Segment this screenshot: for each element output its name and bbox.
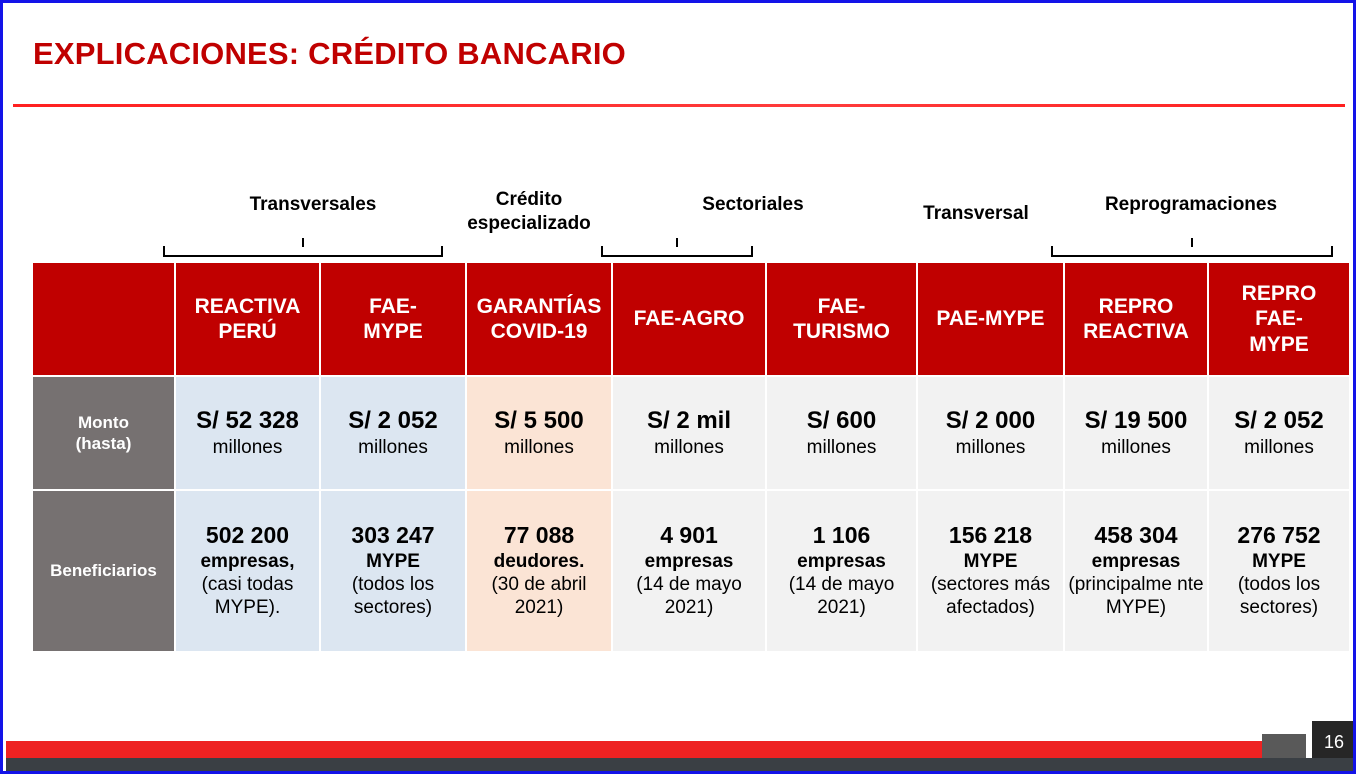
cell-beneficiarios-repro-reactiva: 458 304 empresas (principalme nte MYPE) xyxy=(1065,491,1207,651)
header-line2: COVID-19 xyxy=(467,319,611,344)
beneficiarios-bold-note-text: MYPE xyxy=(366,551,420,572)
credit-programs-table: REACTIVA PERÚ FAE- MYPE GARANTÍAS COVID-… xyxy=(31,261,1351,653)
beneficiarios-count: 1 106 xyxy=(767,522,916,550)
title-divider xyxy=(13,104,1345,107)
monto-unit: millones xyxy=(176,436,319,459)
monto-unit: millones xyxy=(321,436,465,459)
beneficiarios-count: 502 200 xyxy=(176,522,319,550)
cell-monto-fae-turismo: S/ 600 millones xyxy=(767,377,916,489)
monto-amount: S/ 2 052 xyxy=(1209,407,1349,436)
header-line1: REPRO xyxy=(1065,294,1207,319)
beneficiarios-bold-note: empresas, xyxy=(176,550,319,573)
cell-beneficiarios-fae-agro: 4 901 empresas (14 de mayo 2021) xyxy=(613,491,765,651)
beneficiarios-bold-note: empresas xyxy=(767,550,916,573)
beneficiarios-bold-note: deudores. xyxy=(467,550,611,573)
column-header-repro-reactiva: REPRO REACTIVA xyxy=(1065,263,1207,375)
monto-unit: millones xyxy=(467,436,611,459)
header-line2: PERÚ xyxy=(176,319,319,344)
bracket-sectoriales xyxy=(601,243,753,257)
row-label-beneficiarios: Beneficiarios xyxy=(33,491,174,651)
cell-monto-fae-agro: S/ 2 mil millones xyxy=(613,377,765,489)
header-line2: TURISMO xyxy=(767,319,916,344)
footer-dark-strip xyxy=(6,758,1356,771)
slide-canvas: EXPLICACIONES: CRÉDITO BANCARIO Transver… xyxy=(0,0,1356,774)
column-header-pae-mype: PAE-MYPE xyxy=(918,263,1063,375)
header-line1: PAE-MYPE xyxy=(918,306,1063,331)
group-label-sectoriales: Sectoriales xyxy=(603,193,903,217)
header-line2: MYPE xyxy=(321,319,465,344)
column-header-fae-agro: FAE-AGRO xyxy=(613,263,765,375)
cell-monto-reactiva-peru: S/ 52 328 millones xyxy=(176,377,319,489)
monto-unit: millones xyxy=(918,436,1063,459)
header-line3: MYPE xyxy=(1209,332,1349,357)
beneficiarios-note: (principalme nte MYPE) xyxy=(1065,573,1207,619)
beneficiarios-bold-note: MYPE xyxy=(918,550,1063,573)
beneficiarios-bold-note-text: empresas xyxy=(645,551,734,572)
beneficiarios-bold-note: empresas xyxy=(1065,550,1207,573)
header-line1: FAE- xyxy=(767,294,916,319)
row-label-line1: Monto xyxy=(33,412,174,433)
group-label-line1: Crédito xyxy=(455,188,603,212)
footer-gray-box xyxy=(1262,734,1306,758)
page-number: 16 xyxy=(1312,732,1356,753)
beneficiarios-bold-note: MYPE xyxy=(321,550,465,573)
cell-beneficiarios-garantias-covid19: 77 088 deudores. (30 de abril 2021) xyxy=(467,491,611,651)
beneficiarios-bold-note: empresas xyxy=(613,550,765,573)
column-header-reactiva-peru: REACTIVA PERÚ xyxy=(176,263,319,375)
cell-beneficiarios-pae-mype: 156 218 MYPE (sectores más afectados) xyxy=(918,491,1063,651)
row-label-line2: (hasta) xyxy=(33,433,174,454)
monto-amount: S/ 2 000 xyxy=(918,407,1063,436)
table-corner-cell xyxy=(33,263,174,375)
table-row-monto: Monto (hasta) S/ 52 328 millones S/ 2 05… xyxy=(33,377,1349,489)
header-line2: FAE- xyxy=(1209,306,1349,331)
beneficiarios-bold-note-text: MYPE xyxy=(1252,551,1306,572)
cell-beneficiarios-fae-mype: 303 247 MYPE (todos los sectores) xyxy=(321,491,465,651)
column-header-garantias-covid19: GARANTÍAS COVID-19 xyxy=(467,263,611,375)
beneficiarios-count: 156 218 xyxy=(918,522,1063,550)
monto-amount: S/ 2 052 xyxy=(321,407,465,436)
beneficiarios-note: (todos los sectores) xyxy=(1209,573,1349,619)
beneficiarios-count: 4 901 xyxy=(613,522,765,550)
header-line2: REACTIVA xyxy=(1065,319,1207,344)
column-header-fae-mype: FAE- MYPE xyxy=(321,263,465,375)
cell-monto-pae-mype: S/ 2 000 millones xyxy=(918,377,1063,489)
row-label-monto: Monto (hasta) xyxy=(33,377,174,489)
beneficiarios-count: 458 304 xyxy=(1065,522,1207,550)
cell-beneficiarios-repro-fae-mype: 276 752 MYPE (todos los sectores) xyxy=(1209,491,1349,651)
bracket-reprogramaciones xyxy=(1051,243,1333,257)
table-header-row: REACTIVA PERÚ FAE- MYPE GARANTÍAS COVID-… xyxy=(33,263,1349,375)
cell-monto-repro-fae-mype: S/ 2 052 millones xyxy=(1209,377,1349,489)
monto-unit: millones xyxy=(767,436,916,459)
monto-amount: S/ 52 328 xyxy=(176,407,319,436)
footer-red-bar xyxy=(6,741,1262,758)
cell-monto-garantias-covid19: S/ 5 500 millones xyxy=(467,377,611,489)
monto-amount: S/ 600 xyxy=(767,407,916,436)
header-line1: REACTIVA xyxy=(176,294,319,319)
beneficiarios-bold-note-text: empresas xyxy=(1092,551,1181,572)
header-line1: FAE-AGRO xyxy=(613,306,765,331)
beneficiarios-count: 276 752 xyxy=(1209,522,1349,550)
monto-unit: millones xyxy=(613,436,765,459)
beneficiarios-note: (todos los sectores) xyxy=(321,573,465,619)
beneficiarios-bold-note-text: empresas xyxy=(797,551,886,572)
table-row-beneficiarios: Beneficiarios 502 200 empresas, (casi to… xyxy=(33,491,1349,651)
header-line1: FAE- xyxy=(321,294,465,319)
bracket-transversales xyxy=(163,243,443,257)
beneficiarios-note: (30 de abril 2021) xyxy=(467,573,611,619)
cell-monto-fae-mype: S/ 2 052 millones xyxy=(321,377,465,489)
monto-amount: S/ 19 500 xyxy=(1065,407,1207,436)
monto-unit: millones xyxy=(1209,436,1349,459)
monto-amount: S/ 5 500 xyxy=(467,407,611,436)
header-line1: GARANTÍAS xyxy=(467,294,611,319)
cell-beneficiarios-fae-turismo: 1 106 empresas (14 de mayo 2021) xyxy=(767,491,916,651)
beneficiarios-count: 77 088 xyxy=(467,522,611,550)
column-header-repro-fae-mype: REPRO FAE- MYPE xyxy=(1209,263,1349,375)
beneficiarios-count: 303 247 xyxy=(321,522,465,550)
header-line1: REPRO xyxy=(1209,281,1349,306)
page-title: EXPLICACIONES: CRÉDITO BANCARIO xyxy=(33,36,626,72)
beneficiarios-bold-note: MYPE xyxy=(1209,550,1349,573)
beneficiarios-bold-note-text: MYPE xyxy=(964,551,1018,572)
group-label-line2: especializado xyxy=(455,212,603,236)
beneficiarios-note: (casi todas MYPE). xyxy=(176,573,319,619)
group-label-transversal: Transversal xyxy=(905,202,1047,226)
beneficiarios-note: (14 de mayo 2021) xyxy=(767,573,916,619)
group-label-credito-especializado: Crédito especializado xyxy=(455,188,603,236)
monto-unit: millones xyxy=(1065,436,1207,459)
group-label-transversales: Transversales xyxy=(163,193,463,217)
beneficiarios-note: (14 de mayo 2021) xyxy=(613,573,765,619)
group-label-reprogramaciones: Reprogramaciones xyxy=(1049,193,1333,217)
column-header-fae-turismo: FAE- TURISMO xyxy=(767,263,916,375)
cell-monto-repro-reactiva: S/ 19 500 millones xyxy=(1065,377,1207,489)
beneficiarios-bold-note-text: deudores. xyxy=(494,551,585,572)
beneficiarios-bold-note-text: empresas, xyxy=(200,551,294,572)
cell-beneficiarios-reactiva-peru: 502 200 empresas, (casi todas MYPE). xyxy=(176,491,319,651)
beneficiarios-note: (sectores más afectados) xyxy=(918,573,1063,619)
monto-amount: S/ 2 mil xyxy=(613,407,765,436)
